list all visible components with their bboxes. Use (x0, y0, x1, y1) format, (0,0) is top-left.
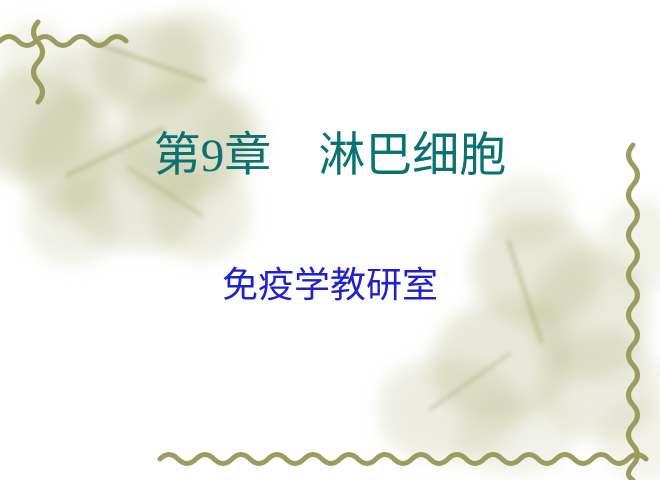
watermark-petal (25, 180, 120, 265)
floral-watermark-topleft (0, 0, 660, 480)
decorative-wavy-line-right-vertical (622, 145, 644, 480)
floral-watermark-bottomright (0, 0, 660, 480)
watermark-petal (55, 40, 135, 115)
presentation-slide: 第9章 淋巴细胞 免疫学教研室 (0, 0, 660, 480)
slide-subtitle: 免疫学教研室 (0, 262, 660, 308)
slide-title: 第9章 淋巴细胞 (0, 126, 660, 186)
decorative-wavy-line-top-vertical (26, 22, 50, 102)
watermark-petal (430, 300, 570, 420)
watermark-petal (150, 10, 240, 90)
watermark-stem (428, 352, 512, 412)
decorative-wavy-line-bottom-horizontal (160, 448, 650, 470)
decorative-wavy-line-top-horizontal (0, 28, 140, 50)
watermark-petal (380, 360, 520, 460)
